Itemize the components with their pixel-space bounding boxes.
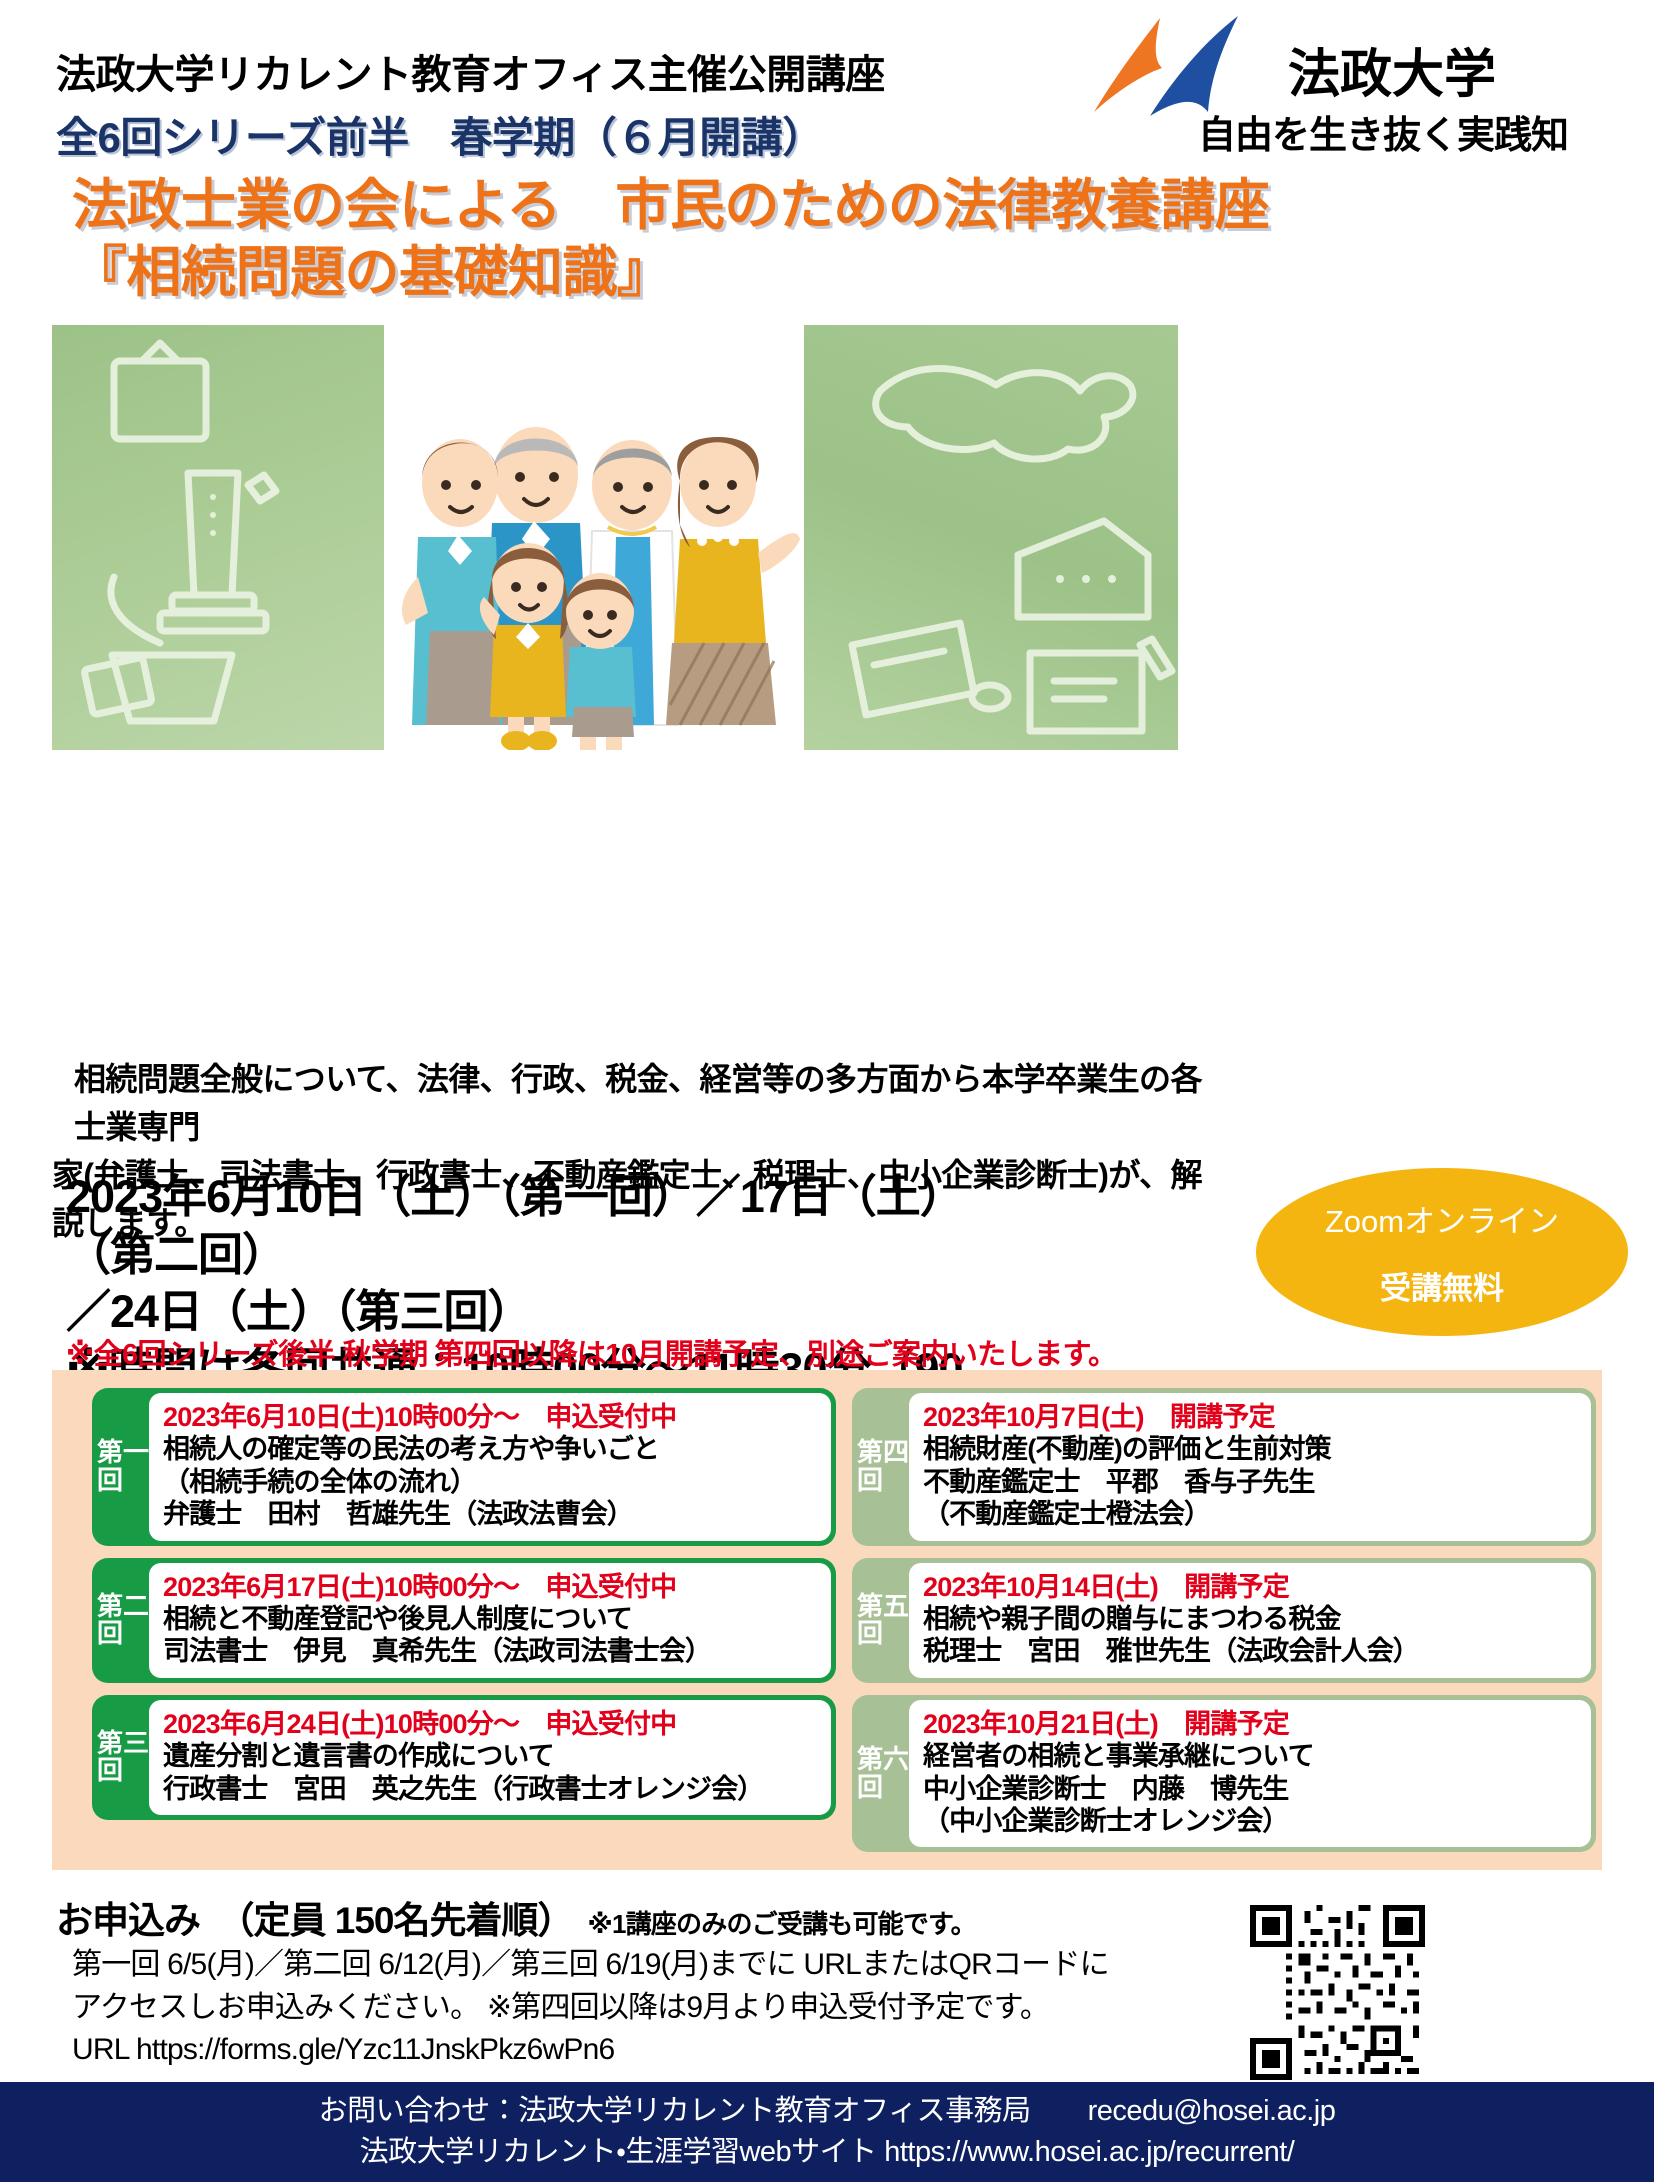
session-badge: 第四回 bbox=[857, 1393, 909, 1541]
application-section: お申込み （定員 150名先着順） ※1講座のみのご受講も可能です。 第一回 6… bbox=[56, 1890, 1156, 2072]
session-topic: 相続と不動産登記や後見人制度について bbox=[163, 1603, 819, 1635]
application-deadline-line: 第一回 6/5(月)／第二回 6/12(月)／第三回 6/19(月)までに UR… bbox=[72, 1944, 1156, 1987]
sessions-panel: 第一回 2023年6月10日(土)10時00分〜 申込受付中 相続人の確定等の民… bbox=[52, 1370, 1602, 1870]
session-lecturer: 中小企業診断士 内藤 博先生 bbox=[923, 1773, 1579, 1805]
session-card[interactable]: 第一回 2023年6月10日(土)10時00分〜 申込受付中 相続人の確定等の民… bbox=[92, 1388, 836, 1546]
session-card[interactable]: 第四回 2023年10月7日(土) 開講予定 相続財産(不動産)の評価と生前対策… bbox=[852, 1388, 1596, 1546]
session-date: 2023年6月24日(土)10時00分〜 申込受付中 bbox=[163, 1708, 819, 1740]
session-topic: 経営者の相続と事業承継について bbox=[923, 1740, 1579, 1772]
zoom-badge-line-1: Zoomオンライン bbox=[1325, 1196, 1559, 1241]
flyer-page: 法政大学リカレント教育オフィス主催公開講座 全6回シリーズ前半 春学期（６月開講… bbox=[0, 0, 1654, 2182]
schedule-notice: ※全6回シリーズ後半 秋学期 第四回以降は10月開講予定、別途ご案内いたします。 bbox=[66, 1331, 1246, 1373]
session-badge: 第三回 bbox=[97, 1700, 149, 1815]
session-organization: （中小企業診断士オレンジ会） bbox=[923, 1805, 1579, 1837]
session-body: 2023年6月10日(土)10時00分〜 申込受付中 相続人の確定等の民法の考え… bbox=[149, 1393, 831, 1541]
session-topic: 相続人の確定等の民法の考え方や争いごと bbox=[163, 1433, 819, 1465]
hosei-university-logo: 法政大学 自由を生き抜く実践知 bbox=[1088, 8, 1648, 143]
application-url-line[interactable]: URL https://forms.gle/Yzc11JnskPkz6wPn6 bbox=[72, 2029, 1156, 2072]
application-heading: お申込み （定員 150名先着順） bbox=[56, 1890, 574, 1944]
session-badge: 第二回 bbox=[97, 1563, 149, 1678]
session-subtopic: （相続手続の全体の流れ） bbox=[163, 1466, 819, 1498]
session-organization: （不動産鑑定士橙法会） bbox=[923, 1498, 1579, 1530]
session-date: 2023年10月14日(土) 開講予定 bbox=[923, 1571, 1579, 1603]
session-body: 2023年10月7日(土) 開講予定 相続財産(不動産)の評価と生前対策 不動産… bbox=[909, 1393, 1591, 1541]
description-line-1: 相続問題全般について、法律、行政、税金、経営等の多方面から本学卒業生の各士業専門 bbox=[74, 1055, 1202, 1151]
session-card[interactable]: 第六回 2023年10月21日(土) 開講予定 経営者の相続と事業承継について … bbox=[852, 1695, 1596, 1853]
session-badge: 第六回 bbox=[857, 1700, 909, 1848]
hero-illustration bbox=[52, 325, 1178, 750]
session-body: 2023年10月14日(土) 開講予定 相続や親子間の贈与にまつわる税金 税理士… bbox=[909, 1563, 1591, 1678]
session-card[interactable]: 第三回 2023年6月24日(土)10時00分〜 申込受付中 遺産分割と遺言書の… bbox=[92, 1695, 836, 1820]
application-heading-note: ※1講座のみのご受講も可能です。 bbox=[588, 1904, 976, 1941]
session-badge: 第五回 bbox=[857, 1563, 909, 1678]
footer-line-2[interactable]: 法政大学リカレント・生涯学習webサイト https://www.hosei.a… bbox=[360, 2132, 1295, 2173]
logo-tagline: 自由を生き抜く実践知 bbox=[1198, 104, 1568, 159]
date-line-1: 2023年6月10日（土）（第一回）／17日（土）（第二回） bbox=[66, 1168, 966, 1283]
session-lecturer: 税理士 宮田 雅世先生（法政会計人会） bbox=[923, 1635, 1579, 1667]
hero-panel-left bbox=[52, 325, 384, 750]
hero-panel-right bbox=[804, 325, 1178, 750]
session-date: 2023年6月10日(土)10時00分〜 申込受付中 bbox=[163, 1401, 819, 1433]
header-line-2: 全6回シリーズ前半 春学期（６月開講） bbox=[56, 104, 824, 165]
footer-line-1: お問い合わせ：法政大学リカレント教育オフィス事務局 recedu@hosei.a… bbox=[319, 2091, 1336, 2132]
sessions-column-left: 第一回 2023年6月10日(土)10時00分〜 申込受付中 相続人の確定等の民… bbox=[92, 1388, 836, 1832]
hero-panel-family bbox=[384, 325, 804, 750]
qr-code[interactable] bbox=[1250, 1905, 1425, 2080]
session-card[interactable]: 第二回 2023年6月17日(土)10時00分〜 申込受付中 相続と不動産登記や… bbox=[92, 1558, 836, 1683]
zoom-badge-line-2: 受講無料 bbox=[1380, 1263, 1504, 1308]
session-lecturer: 不動産鑑定士 平郡 香与子先生 bbox=[923, 1466, 1579, 1498]
session-topic: 相続や親子間の贈与にまつわる税金 bbox=[923, 1603, 1579, 1635]
session-body: 2023年6月17日(土)10時00分〜 申込受付中 相続と不動産登記や後見人制… bbox=[149, 1563, 831, 1678]
session-card[interactable]: 第五回 2023年10月14日(土) 開講予定 相続や親子間の贈与にまつわる税金… bbox=[852, 1558, 1596, 1683]
session-lecturer: 行政書士 宮田 英之先生（行政書士オレンジ会） bbox=[163, 1773, 819, 1805]
footer-contact-bar: お問い合わせ：法政大学リカレント教育オフィス事務局 recedu@hosei.a… bbox=[0, 2082, 1654, 2182]
session-date: 2023年10月21日(土) 開講予定 bbox=[923, 1708, 1579, 1740]
zoom-online-badge: Zoomオンライン 受講無料 bbox=[1256, 1168, 1628, 1336]
header-line-1: 法政大学リカレント教育オフィス主催公開講座 bbox=[56, 42, 885, 100]
session-topic: 遺産分割と遺言書の作成について bbox=[163, 1740, 819, 1772]
application-heading-row: お申込み （定員 150名先着順） ※1講座のみのご受講も可能です。 bbox=[56, 1890, 1156, 1944]
session-lecturer: 弁護士 田村 哲雄先生（法政法曹会） bbox=[163, 1498, 819, 1530]
session-body: 2023年6月24日(土)10時00分〜 申込受付中 遺産分割と遺言書の作成につ… bbox=[149, 1700, 831, 1815]
session-badge: 第一回 bbox=[97, 1393, 149, 1541]
session-date: 2023年10月7日(土) 開講予定 bbox=[923, 1401, 1579, 1433]
session-lecturer: 司法書士 伊見 真希先生（法政司法書士会） bbox=[163, 1635, 819, 1667]
sessions-column-right: 第四回 2023年10月7日(土) 開講予定 相続財産(不動産)の評価と生前対策… bbox=[852, 1388, 1596, 1864]
session-topic: 相続財産(不動産)の評価と生前対策 bbox=[923, 1433, 1579, 1465]
session-body: 2023年10月21日(土) 開講予定 経営者の相続と事業承継について 中小企業… bbox=[909, 1700, 1591, 1848]
application-instructions-line: アクセスしお申込みください。 ※第四回以降は9月より申込受付予定です。 bbox=[72, 1987, 1156, 2030]
page-title: 法政士業の会による 市民のための法律教養講座『相続問題の基礎知識』 bbox=[72, 172, 1272, 306]
session-date: 2023年6月17日(土)10時00分〜 申込受付中 bbox=[163, 1571, 819, 1603]
logo-university-name: 法政大学 bbox=[1288, 32, 1496, 107]
